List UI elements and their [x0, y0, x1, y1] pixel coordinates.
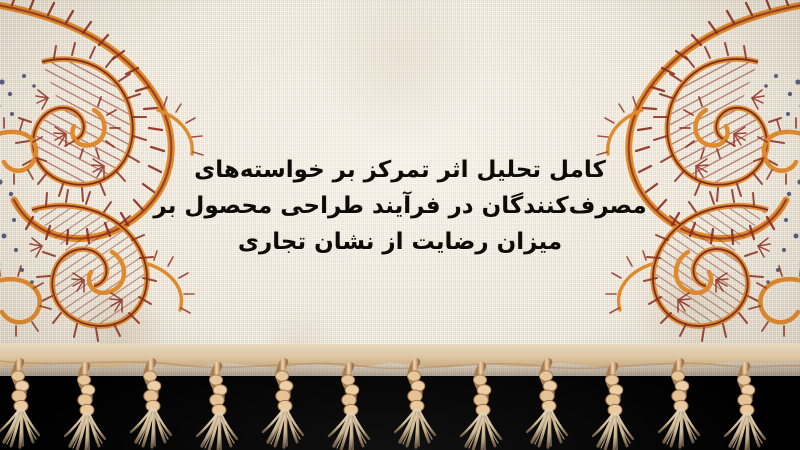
tassel-fringe	[0, 344, 800, 450]
slide-canvas: کامل تحلیل اثر تمرکز بر خواسته‌های مصرف‌…	[0, 0, 800, 450]
title-block: کامل تحلیل اثر تمرکز بر خواسته‌های مصرف‌…	[150, 152, 650, 260]
title-line-3: میزان رضایت از نشان تجاری	[150, 224, 650, 260]
title-line-2: مصرف‌کنندگان در فرآیند طراحی محصول بر	[150, 188, 650, 224]
tassel-row	[0, 362, 765, 450]
title-line-1: کامل تحلیل اثر تمرکز بر خواسته‌های	[150, 152, 650, 188]
